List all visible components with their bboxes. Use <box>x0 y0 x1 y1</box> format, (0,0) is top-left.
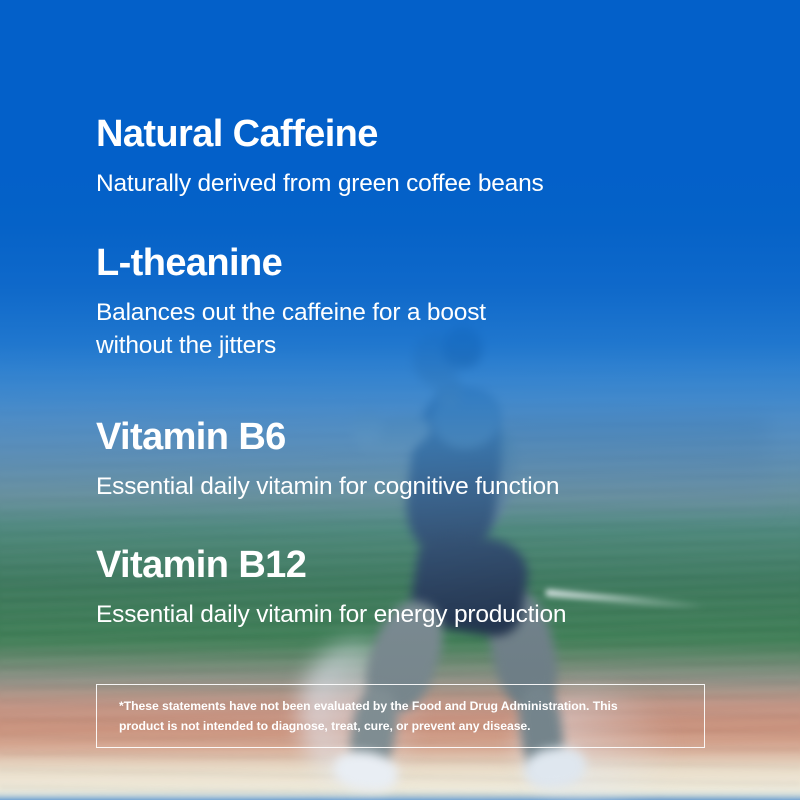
benefit-title: L-theanine <box>96 243 526 283</box>
benefit-item-vitamin-b6: Vitamin B6 Essential daily vitamin for c… <box>96 417 559 504</box>
ingredient-benefits-poster: Natural Caffeine Naturally derived from … <box>0 0 800 800</box>
fda-disclaimer-box: *These statements have not been evaluate… <box>96 684 705 748</box>
benefit-title: Vitamin B6 <box>96 417 559 457</box>
benefit-title: Natural Caffeine <box>96 114 544 154</box>
benefit-title: Vitamin B12 <box>96 545 566 585</box>
benefit-description: Naturally derived from green coffee bean… <box>96 168 544 201</box>
benefits-list: Natural Caffeine Naturally derived from … <box>0 0 800 800</box>
benefit-description: Balances out the caffeine for a boost wi… <box>96 297 526 362</box>
fda-disclaimer-text: *These statements have not been evaluate… <box>97 696 657 737</box>
benefit-item-vitamin-b12: Vitamin B12 Essential daily vitamin for … <box>96 545 566 632</box>
benefit-description: Essential daily vitamin for energy produ… <box>96 599 566 632</box>
benefit-item-l-theanine: L-theanine Balances out the caffeine for… <box>96 243 526 362</box>
benefit-description: Essential daily vitamin for cognitive fu… <box>96 471 559 504</box>
benefit-item-natural-caffeine: Natural Caffeine Naturally derived from … <box>96 114 544 201</box>
